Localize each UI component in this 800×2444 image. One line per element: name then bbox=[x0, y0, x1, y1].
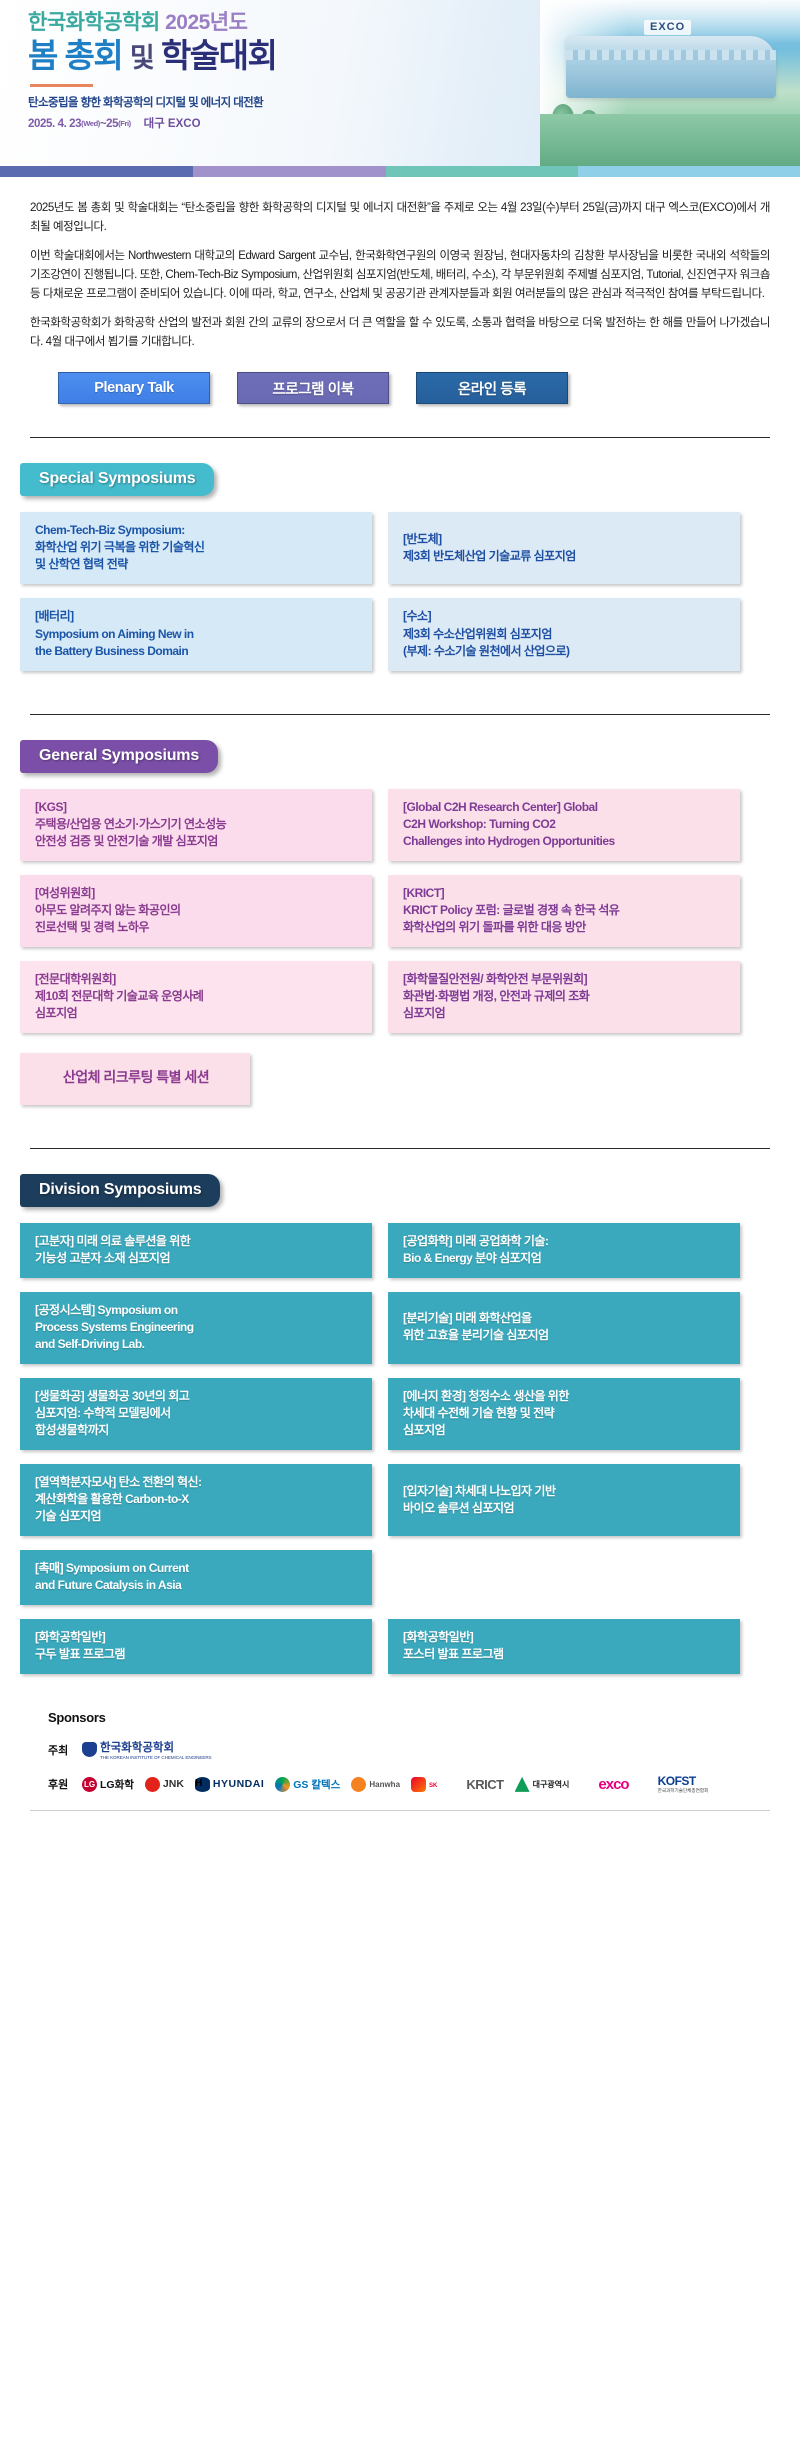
logo-label: 대구광역시 bbox=[533, 1780, 570, 1789]
logo-label: exco bbox=[598, 1776, 628, 1793]
symposium-card-label: [화학물질안전원/ 화학안전 부문위원회] 화관법·화평법 개정, 안전과 규제… bbox=[403, 971, 589, 1022]
section: General Symposiums[KGS] 주택용/산업용 연소기·가스기기… bbox=[0, 715, 800, 1115]
symposium-grid: [KGS] 주택용/산업용 연소기·가스기기 연소성능 안전성 검증 및 안전기… bbox=[0, 789, 800, 1033]
section-heading: Division Symposiums bbox=[20, 1174, 220, 1207]
hero-date-venue: 2025. 4. 23(Wed)~25(Fri) 대구 EXCO bbox=[28, 115, 800, 131]
symposium-card-label: [화학공학일반] 포스터 발표 프로그램 bbox=[403, 1629, 504, 1663]
symposium-card-label: [공정시스템] Symposium on Process Systems Eng… bbox=[35, 1302, 194, 1353]
symposium-card[interactable]: [입자기술] 차세대 나노입자 기반 바이오 솔루션 심포지엄 bbox=[388, 1464, 740, 1536]
symposium-card[interactable]: [공정시스템] Symposium on Process Systems Eng… bbox=[20, 1292, 372, 1364]
logo-label: KOFST bbox=[658, 1774, 696, 1788]
hero-date-day2: (Fri) bbox=[118, 119, 131, 128]
section-heading: Special Symposiums bbox=[20, 463, 214, 496]
recruiting-session-label: 산업체 리크루팅 특별 세션 bbox=[63, 1068, 209, 1088]
symposium-card-label: [생물화공] 생물화공 30년의 회고 심포지엄: 수학적 모델링에서 합성생물… bbox=[35, 1388, 189, 1439]
symposium-card[interactable]: [공업화학] 미래 공업화학 기술: Bio & Energy 분야 심포지엄 bbox=[388, 1223, 740, 1278]
symposium-card[interactable]: Chem-Tech-Biz Symposium: 화학산업 위기 극복을 위한 … bbox=[20, 512, 372, 584]
logo-label: GS 칼텍스 bbox=[293, 1779, 340, 1791]
intro-text: 2025년도 봄 총회 및 학술대회는 “탄소중립을 향한 화학공학의 디지털 … bbox=[0, 177, 800, 351]
section: Division Symposiums[고분자] 미래 의료 솔루션을 위한 기… bbox=[0, 1149, 800, 1684]
hero-title-conj: 및 bbox=[130, 43, 153, 73]
hyundai-mark-icon: H bbox=[195, 1777, 210, 1792]
section: Special SymposiumsChem-Tech-Biz Symposiu… bbox=[0, 438, 800, 680]
symposium-card-label: [KGS] 주택용/산업용 연소기·가스기기 연소성능 안전성 검증 및 안전기… bbox=[35, 799, 226, 850]
logo-jnk[interactable]: JNK bbox=[145, 1777, 184, 1792]
logo-hanwha[interactable]: Hanwha bbox=[351, 1777, 400, 1792]
hero-title-sub: 학술대회 bbox=[161, 37, 276, 74]
action-button[interactable]: Plenary Talk bbox=[58, 372, 210, 404]
kiche-emblem-icon bbox=[82, 1742, 97, 1757]
symposium-card[interactable]: [전문대학위원회] 제10회 전문대학 기술교육 운영사례 심포지엄 bbox=[20, 961, 372, 1033]
poster-page: EXCO 한국화학공학회 2025년도 봄 총회 및 학술대회 탄소중립을 향한… bbox=[0, 0, 800, 2444]
symposium-card-label: [열역학분자모사] 탄소 전환의 혁신: 계산화학을 활용한 Carbon-to… bbox=[35, 1474, 202, 1525]
hero-year: 2025년도 bbox=[165, 11, 247, 34]
symposium-card-label: [반도체] 제3회 반도체산업 기술교류 심포지엄 bbox=[403, 531, 576, 565]
symposium-card[interactable]: [생물화공] 생물화공 30년의 회고 심포지엄: 수학적 모델링에서 합성생물… bbox=[20, 1378, 372, 1450]
symposium-card-label: [화학공학일반] 구두 발표 프로그램 bbox=[35, 1629, 125, 1663]
symposium-card[interactable]: [에너지 환경] 청정수소 생산을 위한 차세대 수전해 기술 현황 및 전략 … bbox=[388, 1378, 740, 1450]
symposium-card-label: [입자기술] 차세대 나노입자 기반 바이오 솔루션 심포지엄 bbox=[403, 1483, 556, 1517]
gs-mark-icon bbox=[275, 1777, 290, 1792]
hero-banner: EXCO 한국화학공학회 2025년도 봄 총회 및 학술대회 탄소중립을 향한… bbox=[0, 0, 800, 166]
hero-line-1: 한국화학공학회 2025년도 bbox=[28, 10, 800, 35]
host-logos: 한국화학공학회 THE KOREAN INSTITUTE OF CHEMICAL… bbox=[82, 1739, 212, 1760]
sponsors-section: Sponsors 주최 한국화학공학회 THE KOREAN INSTITUTE… bbox=[0, 1684, 800, 1811]
action-button[interactable]: 온라인 등록 bbox=[416, 372, 568, 404]
hero-line-2: 봄 총회 및 학술대회 bbox=[28, 37, 800, 75]
logo-kiche[interactable]: 한국화학공학회 THE KOREAN INSTITUTE OF CHEMICAL… bbox=[82, 1739, 212, 1760]
symposium-card-label: [Global C2H Research Center] Global C2H … bbox=[403, 799, 615, 850]
color-bar-segment bbox=[193, 166, 386, 177]
symposium-card[interactable]: [배터리] Symposium on Aiming New in the Bat… bbox=[20, 598, 372, 670]
symposium-card-label: [고분자] 미래 의료 솔루션을 위한 기능성 고분자 소재 심포지엄 bbox=[35, 1233, 190, 1267]
symposium-card[interactable]: [열역학분자모사] 탄소 전환의 혁신: 계산화학을 활용한 Carbon-to… bbox=[20, 1464, 372, 1536]
hero-title-main: 봄 총회 bbox=[28, 37, 122, 74]
color-bar-segment bbox=[0, 166, 193, 177]
section-heading: General Symposiums bbox=[20, 740, 218, 773]
sk-mark-icon bbox=[411, 1777, 426, 1792]
logo-kofst[interactable]: KOFST한국과학기술단체총연합회 bbox=[640, 1774, 709, 1794]
symposium-card[interactable]: [Global C2H Research Center] Global C2H … bbox=[388, 789, 740, 861]
krict-mark-icon bbox=[448, 1777, 463, 1792]
intro-paragraph: 한국화학공학회가 화학공학 산업의 발전과 회원 간의 교류의 장으로서 더 큰… bbox=[30, 314, 770, 351]
symposium-grid: Chem-Tech-Biz Symposium: 화학산업 위기 극복을 위한 … bbox=[0, 512, 800, 670]
hero-venue: 대구 EXCO bbox=[144, 118, 201, 130]
hero-date-day1: (Wed) bbox=[81, 119, 100, 128]
symposium-card-label: [수소] 제3회 수소산업위원회 심포지엄 (부제: 수소기술 원천에서 산업으… bbox=[403, 608, 570, 659]
logo-daegu[interactable]: 대구광역시 bbox=[515, 1777, 570, 1792]
symposium-card-label: [전문대학위원회] 제10회 전문대학 기술교육 운영사례 심포지엄 bbox=[35, 971, 203, 1022]
symposium-card-label: [여성위원회] 아무도 알려주지 않는 화공인의 진로선택 및 경력 노하우 bbox=[35, 885, 181, 936]
logo-label: SK bbox=[429, 1783, 437, 1789]
hanwha-mark-icon bbox=[351, 1777, 366, 1792]
host-label: 주최 bbox=[48, 1742, 82, 1758]
hero-divider bbox=[30, 84, 93, 87]
color-bar-segment bbox=[386, 166, 579, 177]
special-session-row: 산업체 리크루팅 특별 세션 bbox=[0, 1053, 800, 1105]
lg-mark-icon: LG bbox=[82, 1777, 97, 1792]
symposium-card[interactable]: [반도체] 제3회 반도체산업 기술교류 심포지엄 bbox=[388, 512, 740, 584]
symposium-card-label: [분리기술] 미래 화학산업을 위한 고효율 분리기술 심포지엄 bbox=[403, 1310, 549, 1344]
support-label: 후원 bbox=[48, 1776, 82, 1792]
host-row: 주최 한국화학공학회 THE KOREAN INSTITUTE OF CHEMI… bbox=[48, 1739, 770, 1760]
symposium-card-label: [촉매] Symposium on Current and Future Cat… bbox=[35, 1560, 189, 1594]
color-bar bbox=[0, 166, 800, 177]
footer-divider bbox=[30, 1810, 770, 1811]
logo-label: Hanwha bbox=[369, 1780, 400, 1789]
symposium-card[interactable]: [수소] 제3회 수소산업위원회 심포지엄 (부제: 수소기술 원천에서 산업으… bbox=[388, 598, 740, 670]
symposium-card-label: [공업화학] 미래 공업화학 기술: Bio & Energy 분야 심포지엄 bbox=[403, 1233, 548, 1267]
kofst-mark-icon bbox=[640, 1777, 655, 1792]
hero-date: 2025. 4. 23 bbox=[28, 118, 81, 130]
symposium-grid: [고분자] 미래 의료 솔루션을 위한 기능성 고분자 소재 심포지엄[공업화학… bbox=[0, 1223, 800, 1674]
symposium-card[interactable]: [여성위원회] 아무도 알려주지 않는 화공인의 진로선택 및 경력 노하우 bbox=[20, 875, 372, 947]
exco-mark-icon bbox=[580, 1777, 595, 1792]
logo-hyundai[interactable]: HHYUNDAI bbox=[195, 1777, 264, 1792]
symposium-card[interactable]: [고분자] 미래 의료 솔루션을 위한 기능성 고분자 소재 심포지엄 bbox=[20, 1223, 372, 1278]
logo-kiche-label: 한국화학공학회 bbox=[100, 1742, 174, 1754]
daegu-mark-icon bbox=[515, 1777, 530, 1792]
symposium-card-label: [KRICT] KRICT Policy 포럼: 글로벌 경쟁 속 한국 석유 … bbox=[403, 885, 619, 936]
symposium-card[interactable]: [화학공학일반] 포스터 발표 프로그램 bbox=[388, 1619, 740, 1674]
logo-label: LG화학 bbox=[100, 1779, 134, 1791]
logo-exco[interactable]: exco bbox=[580, 1776, 628, 1793]
logo-lg[interactable]: LGLG화학 bbox=[82, 1777, 134, 1792]
intro-paragraph: 2025년도 봄 총회 및 학술대회는 “탄소중립을 향한 화학공학의 디지털 … bbox=[30, 199, 770, 236]
symposium-card[interactable]: [KRICT] KRICT Policy 포럼: 글로벌 경쟁 속 한국 석유 … bbox=[388, 875, 740, 947]
logo-label: KRICT bbox=[466, 1777, 503, 1792]
color-bar-segment bbox=[578, 166, 800, 177]
hero-society-name: 한국화학공학회 bbox=[28, 11, 160, 34]
symposium-card-label: Chem-Tech-Biz Symposium: 화학산업 위기 극복을 위한 … bbox=[35, 522, 204, 573]
logo-label: JNK bbox=[163, 1778, 184, 1790]
sections-container: Special SymposiumsChem-Tech-Biz Symposiu… bbox=[0, 437, 800, 1684]
support-logos: LGLG화학JNKHHYUNDAIGS 칼텍스HanwhaSKKRICT대구광역… bbox=[82, 1774, 708, 1794]
logo-krict[interactable]: KRICT bbox=[448, 1777, 503, 1792]
symposium-card[interactable]: [화학물질안전원/ 화학안전 부문위원회] 화관법·화평법 개정, 안전과 규제… bbox=[388, 961, 740, 1033]
symposium-card[interactable]: [분리기술] 미래 화학산업을 위한 고효율 분리기술 심포지엄 bbox=[388, 1292, 740, 1364]
intro-paragraph: 이번 학술대회에서는 Northwestern 대학교의 Edward Sarg… bbox=[30, 247, 770, 303]
symposium-card-label: [에너지 환경] 청정수소 생산을 위한 차세대 수전해 기술 현황 및 전략 … bbox=[403, 1388, 569, 1439]
hero-date-mid: ~25 bbox=[100, 118, 118, 130]
logo-sk[interactable]: SK bbox=[411, 1777, 437, 1792]
jnk-mark-icon bbox=[145, 1777, 160, 1792]
action-button[interactable]: 프로그램 이북 bbox=[237, 372, 389, 404]
symposium-card-label: [배터리] Symposium on Aiming New in the Bat… bbox=[35, 608, 194, 659]
hero-subtitle: 탄소중립을 향한 화학공학의 디지털 및 에너지 대전환 bbox=[28, 94, 800, 110]
sponsors-heading: Sponsors bbox=[48, 1710, 770, 1725]
symposium-card[interactable]: [촉매] Symposium on Current and Future Cat… bbox=[20, 1550, 372, 1605]
logo-label: HYUNDAI bbox=[213, 1778, 264, 1790]
logo-gs[interactable]: GS 칼텍스 bbox=[275, 1777, 340, 1792]
symposium-card[interactable]: [화학공학일반] 구두 발표 프로그램 bbox=[20, 1619, 372, 1674]
logo-kiche-sublabel: THE KOREAN INSTITUTE OF CHEMICAL ENGINEE… bbox=[100, 1755, 212, 1760]
action-button-row: Plenary Talk프로그램 이북온라인 등록 bbox=[0, 362, 800, 404]
logo-sublabel: 한국과학기술단체총연합회 bbox=[658, 1788, 709, 1794]
support-row: 후원 LGLG화학JNKHHYUNDAIGS 칼텍스HanwhaSKKRICT대… bbox=[48, 1774, 770, 1794]
recruiting-session-card[interactable]: 산업체 리크루팅 특별 세션 bbox=[20, 1053, 250, 1105]
symposium-card[interactable]: [KGS] 주택용/산업용 연소기·가스기기 연소성능 안전성 검증 및 안전기… bbox=[20, 789, 372, 861]
